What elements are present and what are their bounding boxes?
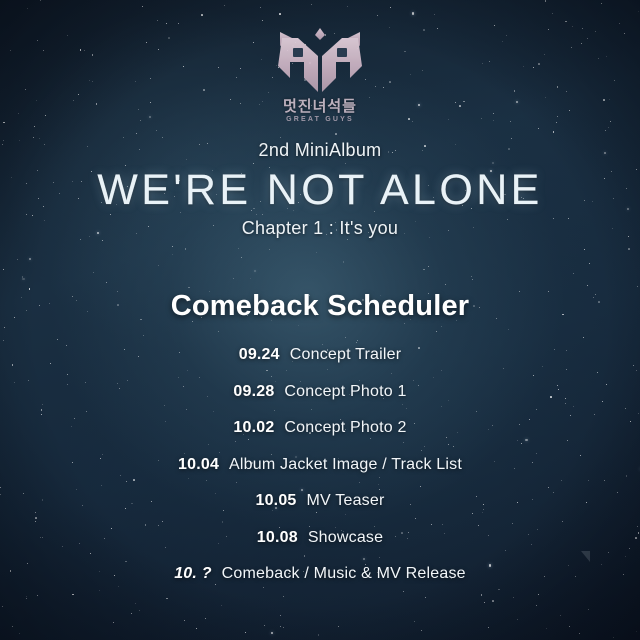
group-name-english: GREAT GUYS xyxy=(286,116,354,123)
schedule-row: 10.04Album Jacket Image / Track List xyxy=(0,447,640,484)
album-comeback-schedule-poster: 멋진녀석들 GREAT GUYS 2nd MiniAlbum WE'RE NOT… xyxy=(0,0,640,640)
schedule-row: 09.24Concept Trailer xyxy=(0,337,640,374)
schedule-row: 09.28Concept Photo 1 xyxy=(0,374,640,411)
schedule-row-label: MV Teaser xyxy=(307,492,385,510)
album-chapter-label: Chapter 1 : It's you xyxy=(0,218,640,239)
schedule-row-label: Album Jacket Image / Track List xyxy=(229,456,462,474)
album-order-label: 2nd MiniAlbum xyxy=(0,140,640,161)
schedule-row-label: Showcase xyxy=(308,529,383,547)
comeback-schedule-list: 09.24Concept Trailer09.28Concept Photo 1… xyxy=(0,337,640,593)
schedule-row-label: Concept Trailer xyxy=(290,346,402,364)
album-title: WE'RE NOT ALONE xyxy=(0,166,640,215)
schedule-row-date: 10.02 xyxy=(233,419,274,437)
schedule-row-date: 10.04 xyxy=(178,456,219,474)
gg-shield-emblem-icon xyxy=(274,22,366,96)
group-logo: 멋진녀석들 GREAT GUYS xyxy=(0,22,640,123)
schedule-row: 10.08Showcase xyxy=(0,520,640,557)
schedule-row: 10. ?Comeback / Music & MV Release xyxy=(0,556,640,593)
schedule-row: 10.02Concept Photo 2 xyxy=(0,410,640,447)
schedule-row-date: 10.05 xyxy=(255,492,296,510)
schedule-row-date: 10.08 xyxy=(257,529,298,547)
schedule-row-date: 09.28 xyxy=(233,383,274,401)
schedule-row: 10.05MV Teaser xyxy=(0,483,640,520)
schedule-row-date: 09.24 xyxy=(239,346,280,364)
corner-watermark-icon xyxy=(581,551,590,562)
comeback-scheduler-heading: Comeback Scheduler xyxy=(0,290,640,323)
schedule-row-date: 10. ? xyxy=(174,565,211,583)
schedule-row-label: Comeback / Music & MV Release xyxy=(222,565,466,583)
group-name-korean: 멋진녀석들 xyxy=(283,99,357,114)
schedule-row-label: Concept Photo 1 xyxy=(284,383,406,401)
schedule-row-label: Concept Photo 2 xyxy=(284,419,406,437)
